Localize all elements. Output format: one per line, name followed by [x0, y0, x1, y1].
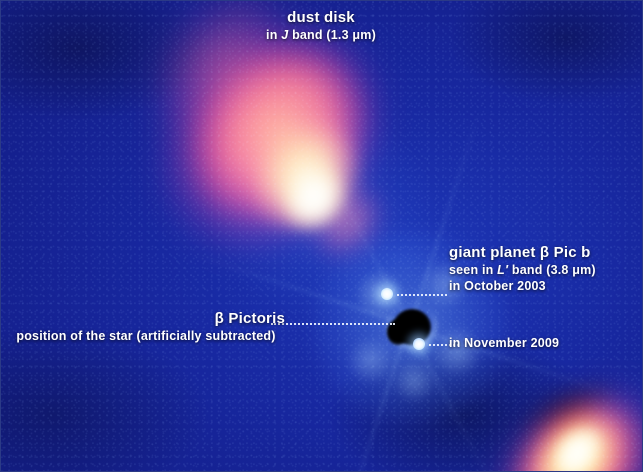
planet-sub-suffix: band (3.8 μm) — [508, 263, 596, 277]
annotation-dust-disk: dust disk in J band (1.3 μm) — [206, 9, 436, 43]
dust-disk-subtitle: in J band (1.3 μm) — [206, 27, 436, 43]
planet-subtitle: seen in L′ band (3.8 μm) — [449, 262, 641, 278]
planet-core — [381, 288, 393, 300]
leader-line-oct-2003 — [397, 294, 447, 296]
dust-disk-sub-prefix: in — [266, 28, 281, 42]
annotation-epoch-2009: in November 2009 — [449, 335, 643, 351]
dust-disk-title: dust disk — [206, 9, 436, 27]
planet-band: L′ — [497, 263, 508, 277]
dust-disk-sw-arm — [1, 1, 642, 471]
planet-core — [413, 338, 425, 350]
beta-pictoris-figure: dust disk in J band (1.3 μm) giant plane… — [0, 0, 643, 472]
leader-line-star — [271, 323, 395, 325]
planet-title: giant planet β Pic b — [449, 244, 641, 262]
annotation-giant-planet: giant planet β Pic b seen in L′ band (3.… — [431, 244, 641, 294]
annotation-star: β Pictoris position of the star (artific… — [7, 310, 285, 344]
planet-sub-prefix: seen in — [449, 263, 497, 277]
planet-point-2003 — [381, 288, 393, 300]
planet-point-2009 — [413, 338, 425, 350]
dust-disk-sub-suffix: band (1.3 μm) — [288, 28, 376, 42]
planet-epoch-2009: in November 2009 — [449, 335, 643, 351]
star-subtitle: position of the star (artificially subtr… — [7, 328, 285, 344]
star-title: β Pictoris — [7, 310, 285, 328]
planet-epoch-2003: in October 2003 — [449, 278, 641, 294]
